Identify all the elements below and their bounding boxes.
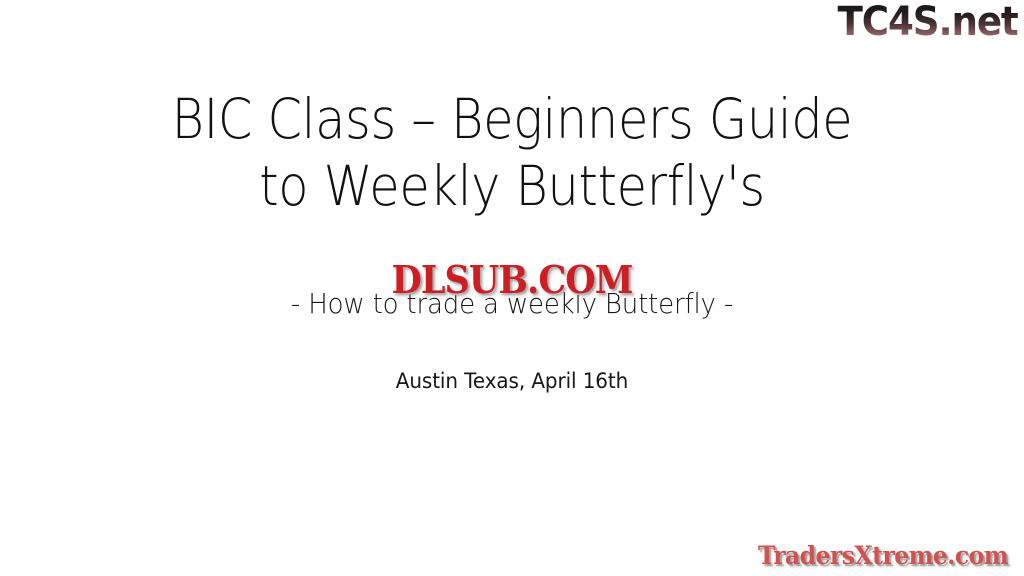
footer-logo-tradersxtreme: TradersXtreme.com: [750, 540, 1016, 572]
slide-title: BIC Class – Beginners Guide to Weekly Bu…: [0, 86, 1024, 220]
footer-logo-text: TradersXtreme.com: [758, 540, 1008, 572]
title-line-1: BIC Class – Beginners Guide: [51, 86, 973, 153]
slide-subtitle: - How to trade a weekly Butterfly -: [36, 287, 988, 321]
title-line-2: to Weekly Butterfly's: [51, 153, 973, 220]
slide-event-line: Austin Texas, April 16th: [26, 368, 999, 394]
brand-logo-tc4s: TC4S.net: [838, 2, 1018, 42]
presentation-slide: TC4S.net BIC Class – Beginners Guide to …: [0, 0, 1024, 576]
